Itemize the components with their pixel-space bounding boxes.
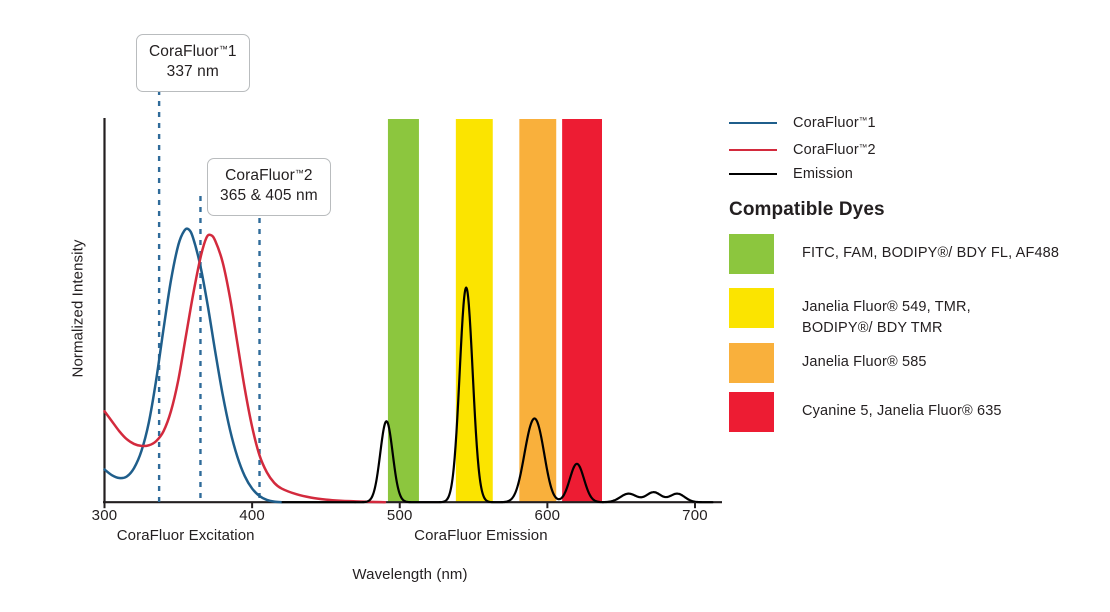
curve-corafluor-2 bbox=[105, 235, 385, 502]
trademark-symbol: ™ bbox=[219, 44, 228, 54]
callout-cf1-value: 337 nm bbox=[149, 62, 237, 82]
compatible-dyes-heading: Compatible Dyes bbox=[729, 199, 885, 221]
dye-label-line-2: BODIPY®/ BDY TMR bbox=[802, 318, 971, 339]
orange-band bbox=[519, 119, 556, 502]
y-axis-title: Normalized Intensity bbox=[70, 209, 87, 409]
dye-color-swatch bbox=[729, 234, 774, 274]
callout-corafluor-1: CoraFluor™1 337 nm bbox=[136, 34, 250, 92]
x-axis-tick-label-300: 300 bbox=[75, 507, 135, 524]
dye-item-label: Janelia Fluor® 585 bbox=[802, 343, 927, 373]
legend-item-index: 1 bbox=[867, 115, 875, 131]
x-axis-tick-label-600: 600 bbox=[517, 507, 577, 524]
dye-color-swatch bbox=[729, 343, 774, 383]
excitation-marker-lines-group bbox=[159, 90, 259, 502]
legend-item-1: CoraFluor™1 bbox=[729, 114, 876, 132]
curve-corafluor-1 bbox=[105, 229, 282, 503]
trademark-symbol: ™ bbox=[295, 168, 304, 178]
x-axis-tick-label-500: 500 bbox=[370, 507, 430, 524]
dye-item-label: Cyanine 5, Janelia Fluor® 635 bbox=[802, 392, 1002, 422]
legend-item-index: 2 bbox=[867, 142, 875, 158]
yellow-band bbox=[456, 119, 493, 502]
dye-item-label: Janelia Fluor® 549, TMR,BODIPY®/ BDY TMR bbox=[802, 288, 971, 338]
legend-line-swatch bbox=[729, 173, 777, 175]
dye-color-swatch bbox=[729, 288, 774, 328]
callout-cf2-value: 365 & 405 nm bbox=[220, 186, 318, 206]
x-axis-tick-label-700: 700 bbox=[665, 507, 725, 524]
dye-label-line-1: Janelia Fluor® 549, TMR, bbox=[802, 297, 971, 318]
x-axis-region-label-excitation: CoraFluor Excitation bbox=[76, 527, 296, 544]
dye-item-2: Janelia Fluor® 549, TMR,BODIPY®/ BDY TMR bbox=[729, 288, 971, 338]
dye-item-label: FITC, FAM, BODIPY®/ BDY FL, AF488 bbox=[802, 234, 1059, 264]
legend-line-swatch bbox=[729, 122, 777, 124]
legend-panel: CoraFluor™1CoraFluor™2Emission Compatibl… bbox=[729, 0, 1110, 612]
x-axis-region-label-emission: CoraFluor Emission bbox=[371, 527, 591, 544]
legend-item-2: CoraFluor™2 bbox=[729, 141, 876, 159]
legend-item-label: CoraFluor™2 bbox=[793, 142, 876, 158]
dye-label-line-1: Cyanine 5, Janelia Fluor® 635 bbox=[802, 401, 1002, 422]
legend-item-label: Emission bbox=[793, 166, 853, 182]
x-axis-tick-label-400: 400 bbox=[222, 507, 282, 524]
callout-corafluor-2: CoraFluor™2 365 & 405 nm bbox=[207, 158, 331, 216]
dye-item-4: Cyanine 5, Janelia Fluor® 635 bbox=[729, 392, 1002, 432]
callout-cf1-title: CoraFluor™1 bbox=[149, 42, 237, 62]
dye-label-line-1: Janelia Fluor® 585 bbox=[802, 352, 927, 373]
legend-line-swatch bbox=[729, 149, 777, 151]
fluorescence-spectra-figure: CoraFluor™1 337 nm CoraFluor™2 365 & 405… bbox=[0, 0, 1110, 612]
x-axis-title: Wavelength (nm) bbox=[290, 566, 530, 583]
plot-area: CoraFluor™1 337 nm CoraFluor™2 365 & 405… bbox=[0, 0, 730, 612]
callout-cf2-title: CoraFluor™2 bbox=[220, 166, 318, 186]
emission-bands-group bbox=[388, 119, 602, 502]
dye-item-1: FITC, FAM, BODIPY®/ BDY FL, AF488 bbox=[729, 234, 1059, 274]
dye-item-3: Janelia Fluor® 585 bbox=[729, 343, 927, 383]
dye-label-line-1: FITC, FAM, BODIPY®/ BDY FL, AF488 bbox=[802, 243, 1059, 264]
dye-color-swatch bbox=[729, 392, 774, 432]
red-band bbox=[562, 119, 602, 502]
legend-item-3: Emission bbox=[729, 165, 853, 183]
legend-item-label: CoraFluor™1 bbox=[793, 115, 876, 131]
